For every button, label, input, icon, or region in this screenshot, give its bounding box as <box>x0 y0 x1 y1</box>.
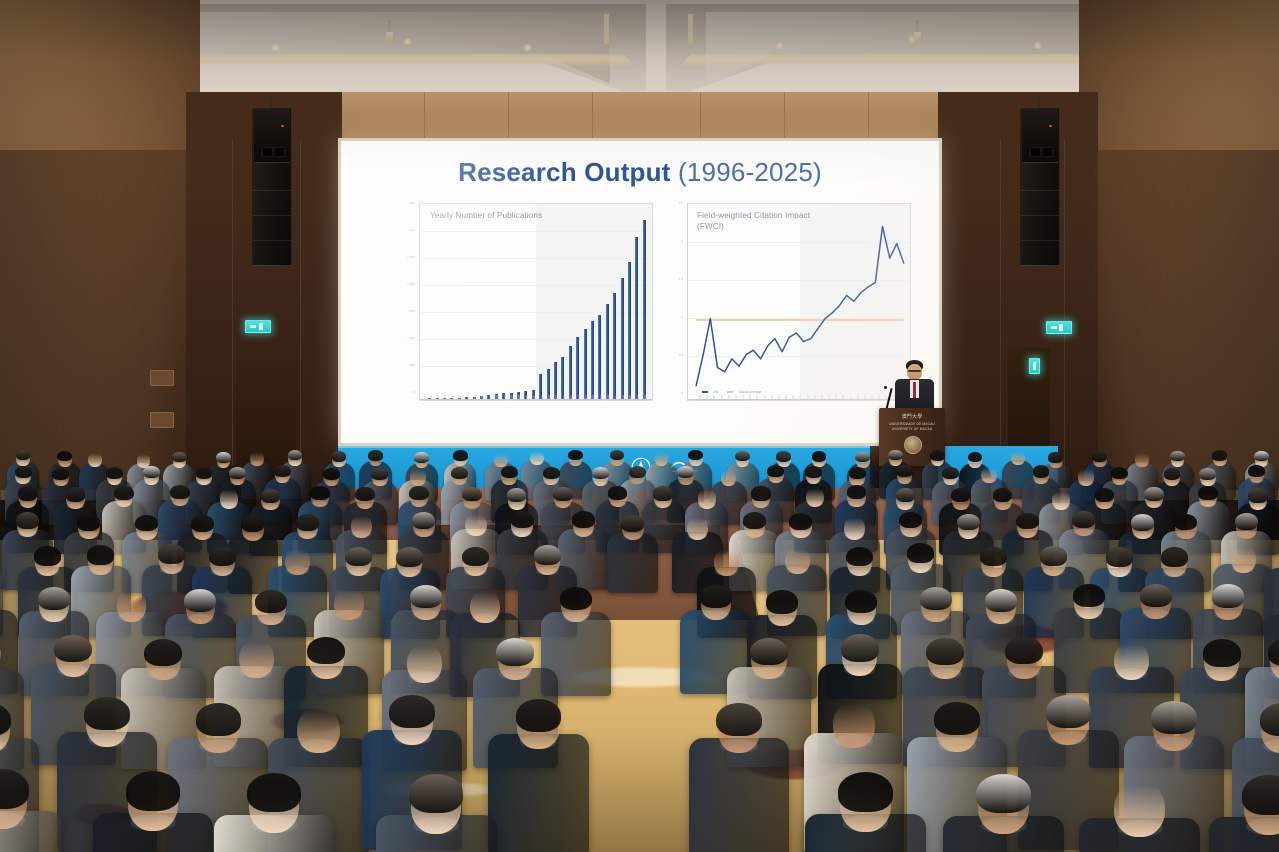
y-tick-label: 500 <box>401 363 415 367</box>
speaker-status-led <box>1049 125 1052 127</box>
y-axis <box>687 203 688 399</box>
y-tick-label: 2 <box>671 239 683 243</box>
audience-hair <box>170 485 190 499</box>
audience-hair <box>307 637 345 665</box>
downlight <box>776 42 783 49</box>
audience-hair <box>414 452 429 463</box>
audience-collar <box>897 504 913 510</box>
audience-hair <box>389 695 434 728</box>
x-tick-label: 2010 <box>799 395 802 401</box>
x-tick-label: 2005 <box>496 395 499 401</box>
audience-hair <box>1073 584 1105 607</box>
audience-hair <box>451 467 468 479</box>
audience-hair <box>930 450 945 461</box>
audience-hair <box>371 468 388 480</box>
audience-hair <box>57 451 72 462</box>
wall-panel-seam <box>424 92 425 140</box>
audience-hair <box>261 489 281 503</box>
x-tick-label: 2001 <box>467 395 470 401</box>
x-tick-label: 2013 <box>555 395 558 401</box>
x-tick-label: 2012 <box>548 395 551 401</box>
x-tick-label: 2016 <box>842 395 845 401</box>
audience-hair <box>1005 637 1043 665</box>
audience-hair <box>1072 511 1095 528</box>
audience-hair <box>16 450 31 461</box>
bar <box>621 278 624 399</box>
bar <box>584 329 587 399</box>
x-tick-label: 1998 <box>713 395 716 401</box>
line-array-speaker-right <box>1020 108 1060 266</box>
audience-hair <box>1199 468 1216 480</box>
x-tick-label: 2000 <box>728 395 731 401</box>
audience-hair <box>572 511 595 528</box>
audience-collar <box>910 564 933 572</box>
presenter-glasses <box>908 370 921 372</box>
audience-hair <box>920 587 952 610</box>
audience-hair <box>688 450 703 461</box>
audience-collar <box>1250 504 1266 510</box>
pendant-lamp <box>914 32 921 43</box>
y-tick-label: 3,000 <box>401 228 415 232</box>
audience-hair <box>135 515 158 532</box>
x-tick-label: 2009 <box>526 395 529 401</box>
fwci-line-series <box>688 204 910 400</box>
legend-swatch-global-average <box>727 391 733 393</box>
audience-collar <box>848 500 864 506</box>
audience-hair <box>1092 451 1107 462</box>
audience-collar <box>753 502 769 508</box>
audience-hair <box>976 774 1031 814</box>
um-fwci-line <box>696 226 904 386</box>
x-tick-label: 1998 <box>444 395 447 401</box>
x-tick-label: 2007 <box>778 395 781 401</box>
audience-collar <box>1008 667 1040 679</box>
audience-collar <box>1163 569 1186 577</box>
audience-collar <box>502 479 516 484</box>
y-tick-label: 0 <box>671 391 683 395</box>
y-axis <box>419 203 420 399</box>
audience-hair <box>114 486 134 500</box>
audience-member <box>0 767 62 852</box>
wall-panel-seam <box>1000 140 1001 480</box>
audience-collar <box>720 739 758 753</box>
x-tick-label: 2021 <box>878 395 881 401</box>
audience-collar <box>1232 565 1255 573</box>
audience-hair <box>767 465 784 477</box>
audience-member <box>376 771 497 852</box>
x-tick-label: 2015 <box>570 395 573 401</box>
audience-torso <box>689 738 789 852</box>
x-tick-label: 2023 <box>629 395 632 401</box>
audience-hair <box>345 547 372 567</box>
audience-hair <box>1161 547 1188 567</box>
audience-collar <box>352 531 371 538</box>
x-tick-label: 2020 <box>871 395 874 401</box>
x-tick-label: 2008 <box>785 395 788 401</box>
x-tick-label: 2011 <box>807 395 810 401</box>
bar <box>569 346 572 399</box>
x-tick-label: 2013 <box>821 395 824 401</box>
audience-hair <box>184 589 216 612</box>
audience-hair <box>805 466 822 478</box>
audience-hair <box>845 590 877 613</box>
y-tick-label: 2,000 <box>401 282 415 286</box>
audience-collar <box>144 479 158 484</box>
audience-hair <box>926 638 964 666</box>
y-tick-label: 1,000 <box>401 336 415 340</box>
audience-collar <box>959 532 978 539</box>
audience-hair <box>849 467 866 479</box>
slide-title-years: (1996-2025) <box>678 157 822 187</box>
microphone-head <box>884 386 887 389</box>
audience-collar <box>59 462 71 467</box>
audience-hair <box>985 589 1017 612</box>
x-tick-labels: 1996199719981999200020012002200320042005… <box>693 401 909 425</box>
audience-collar <box>512 530 531 537</box>
audience-collar <box>67 503 83 509</box>
y-tick-label: 2,500 <box>401 255 415 259</box>
audience-collar <box>413 817 459 834</box>
audience-hair <box>143 466 160 478</box>
presenter-tie <box>913 382 916 398</box>
audience-hair <box>847 485 867 499</box>
x-tick-label: 1997 <box>437 395 440 401</box>
audience-member <box>805 770 926 852</box>
x-tick-label: 2001 <box>735 395 738 401</box>
audience-hair <box>677 466 694 478</box>
audience-hair <box>846 547 873 567</box>
audience-hair <box>15 466 32 478</box>
audience-hair <box>1212 450 1227 461</box>
audience-collar <box>1109 569 1132 577</box>
audience-member <box>93 769 214 852</box>
audience-collar <box>898 478 912 483</box>
back-wall-upper <box>340 92 940 140</box>
audience-hair <box>106 467 123 479</box>
audience-collar <box>160 565 183 573</box>
audience-collar <box>1053 504 1069 510</box>
audience-collar <box>118 612 145 622</box>
speaker-port <box>1042 147 1053 157</box>
x-tick-label: 2010 <box>533 395 536 401</box>
audience-hair <box>534 545 561 565</box>
x-tick-label: 2002 <box>742 395 745 401</box>
y-tick-label: 0 <box>401 390 415 394</box>
audience-collar <box>16 479 30 484</box>
speaker-module <box>253 240 291 266</box>
audience-hair <box>1140 584 1172 607</box>
speaker-port <box>274 147 285 157</box>
audience-hair <box>462 487 482 501</box>
audience-hair <box>560 587 592 610</box>
audience-collar <box>715 568 738 576</box>
audience-collar <box>54 481 68 486</box>
audience-hair <box>288 450 303 461</box>
audience-hair <box>735 451 750 462</box>
audience-hair <box>516 699 561 732</box>
audience-hair <box>1170 451 1185 462</box>
audience-hair <box>144 639 182 667</box>
wall-panel-seam <box>1064 140 1065 480</box>
audience-hair <box>716 703 761 736</box>
audience-member <box>1209 773 1279 852</box>
x-tick-label: 2011 <box>541 395 544 401</box>
y-tick-label: 1 <box>671 315 683 319</box>
audience-hair <box>1198 486 1218 500</box>
audience-collar <box>1074 529 1093 536</box>
x-tick-label: 1997 <box>706 395 709 401</box>
audience-hair <box>66 487 86 501</box>
exit-sign-left <box>245 320 271 333</box>
ceiling-light-slot-1 <box>604 14 609 44</box>
bar <box>554 362 557 399</box>
audience-collar <box>901 530 920 537</box>
audience-hair <box>1131 514 1154 531</box>
audience-member <box>689 701 789 852</box>
x-tick-label: 1999 <box>721 395 724 401</box>
x-tick-label: 2008 <box>518 395 521 401</box>
legend-label-global-average: Global Average <box>738 390 761 394</box>
audience-collar <box>848 615 875 625</box>
wall-panel-seam <box>300 140 301 480</box>
audience-hair <box>412 512 435 529</box>
audience-hair <box>608 486 628 500</box>
audience-hair <box>888 450 903 461</box>
audience-hair <box>1203 639 1241 667</box>
downlight <box>1034 42 1041 49</box>
slide-title-main: Research Output <box>458 157 671 187</box>
ceiling-light-slot-2 <box>688 14 693 44</box>
audience-hair <box>1164 468 1181 480</box>
audience-hair <box>1174 514 1197 531</box>
exit-sign-right <box>1046 321 1072 334</box>
audience-collar <box>944 480 958 485</box>
chart-legend: UM Global Average <box>702 390 761 394</box>
audience-hair <box>126 771 181 811</box>
audience-hair <box>1033 465 1050 477</box>
wall-panel-seam <box>592 92 593 140</box>
x-tick-label: 2024 <box>637 395 640 401</box>
audience-hair <box>1212 584 1244 607</box>
audience-hair <box>934 702 979 735</box>
exit-running-man-icon <box>1033 362 1036 370</box>
audience-collar <box>373 481 387 486</box>
audience-collar <box>995 503 1011 509</box>
wall-plaque-lower <box>150 412 174 428</box>
exit-running-man-icon <box>259 323 263 330</box>
audience-hair <box>172 452 187 463</box>
audience-hair <box>247 773 302 813</box>
x-tick-label: 2017 <box>850 395 853 401</box>
audience-hair <box>1095 488 1115 502</box>
audience-hair <box>896 465 913 477</box>
x-tick-label: 2018 <box>592 395 595 401</box>
audience-hair <box>957 514 980 531</box>
y-tick-label: 0.5 <box>671 353 683 357</box>
audience-hair <box>700 585 732 608</box>
podium-text-en: UNIVERSITY OF MACAU <box>879 427 945 431</box>
audience-hair <box>968 452 983 463</box>
bar <box>591 321 594 399</box>
audience-collar <box>835 734 873 748</box>
audience-hair <box>776 451 791 462</box>
downlight <box>524 44 531 51</box>
audience-collar <box>520 735 558 749</box>
wall-panel-seam <box>868 92 869 140</box>
audience-hair <box>951 488 971 502</box>
line-array-speaker-left <box>252 108 292 266</box>
chart-fwci: 2.5 2 1.5 1 0.5 0 Field-weighted Citatio… <box>671 203 909 425</box>
audience-hair <box>1016 513 1039 530</box>
audience-hair <box>216 452 231 463</box>
audience-member <box>1079 774 1200 852</box>
audience-collar <box>807 479 821 484</box>
x-tick-label: 2006 <box>504 395 507 401</box>
audience-collar <box>722 481 736 486</box>
audience-hair <box>453 450 468 461</box>
audience-hair <box>255 590 287 613</box>
x-tick-label: 2019 <box>864 395 867 401</box>
presenter-head <box>907 364 922 380</box>
audience-hair <box>841 634 879 662</box>
legend-swatch-um <box>702 391 708 393</box>
audience-hair <box>54 635 92 663</box>
audience-hair <box>355 487 375 501</box>
audience-hair <box>568 450 583 461</box>
exit-running-man-icon <box>1059 324 1063 331</box>
audience-hair <box>274 465 291 477</box>
audience-hair <box>462 547 489 567</box>
audience-member <box>607 514 658 598</box>
bar <box>613 293 616 399</box>
audience-hair <box>1144 487 1164 501</box>
audience-hair <box>1040 546 1067 566</box>
x-tick-label: 2014 <box>563 395 566 401</box>
audience-collar <box>1079 481 1093 486</box>
audience-hair <box>296 514 319 531</box>
audience-collar <box>173 463 185 468</box>
audience-collar <box>699 502 715 508</box>
audience-hair <box>496 638 534 666</box>
podium-text-pt: UNIVERSIDADE DE MACAU <box>879 422 945 426</box>
downlight <box>272 44 279 51</box>
speaker-module <box>253 215 291 241</box>
bar <box>643 220 646 399</box>
audience-hair <box>789 513 812 530</box>
x-tick-label: 2012 <box>814 395 817 401</box>
x-tick-label: 2014 <box>828 395 831 401</box>
audience-hair <box>1106 547 1133 567</box>
audience-hair <box>543 467 560 479</box>
audience-hair <box>1111 467 1128 479</box>
audience-hair <box>158 544 185 564</box>
audience-hair <box>942 467 959 479</box>
chart-plot-area: Field-weighted Citation Impact (FWCI) UM… <box>687 203 911 401</box>
audience-hair <box>409 486 429 500</box>
audience-collar <box>953 504 969 510</box>
audience-hair <box>209 547 236 567</box>
audience-collar <box>679 479 693 484</box>
audience-hair <box>332 451 347 462</box>
audience-collar <box>981 817 1027 834</box>
audience-hair <box>18 486 38 500</box>
audience-collar <box>1117 820 1163 837</box>
audience-member <box>943 772 1064 852</box>
audience-hair <box>751 486 771 500</box>
y-tick-label: 1,500 <box>401 309 415 313</box>
audience-hair <box>84 697 129 730</box>
chart-yearly-publications: 3,500 3,000 2,500 2,000 1,500 1,000 500 … <box>401 203 651 425</box>
x-tick-label: 2019 <box>600 395 603 401</box>
wall-panel-seam <box>784 92 785 140</box>
exit-arrow-icon <box>250 325 256 328</box>
y-tick-label: 1.5 <box>671 277 683 281</box>
speaker-module <box>253 165 291 191</box>
audience-collar <box>399 568 422 576</box>
audience-hair <box>310 486 330 500</box>
audience-hair <box>1242 775 1279 815</box>
x-tick-label: 2009 <box>792 395 795 401</box>
audience-collar <box>753 668 785 680</box>
audience-collar <box>688 533 707 540</box>
x-tick-label: 2003 <box>749 395 752 401</box>
speaker-module <box>1021 165 1059 191</box>
speaker-module <box>1021 215 1059 241</box>
bar <box>628 262 631 400</box>
bar <box>576 337 579 399</box>
audience-collar <box>464 502 480 508</box>
audience-hair <box>1048 452 1063 463</box>
audience-hair <box>896 488 916 502</box>
slide-title: Research Output (1996-2025) <box>341 157 939 188</box>
audience-member <box>488 697 588 852</box>
audience <box>0 440 1279 852</box>
audience-hair <box>191 515 214 532</box>
bar <box>606 304 609 399</box>
audience-hair <box>229 467 246 479</box>
speaker-module <box>1021 190 1059 216</box>
audience-collar <box>536 567 559 575</box>
x-tick-label: 2007 <box>511 395 514 401</box>
audience-collar <box>310 667 342 679</box>
audience-collar <box>938 738 976 752</box>
audience-hair <box>553 487 573 501</box>
audience-torso <box>488 734 588 852</box>
audience-collar <box>1034 479 1048 484</box>
right-outer-wall <box>1094 150 1279 490</box>
audience-collar <box>90 566 113 574</box>
audience-hair <box>653 486 673 500</box>
speaker-status-led <box>281 125 284 127</box>
pendant-lamp <box>386 32 393 43</box>
y-tick-label: 3,500 <box>401 201 415 205</box>
audience-torso <box>607 533 658 594</box>
audience-collar <box>923 612 950 622</box>
exit-arrow-icon <box>1051 326 1057 329</box>
audience-hair <box>1235 513 1258 530</box>
projection-screen: Research Output (1996-2025) 3,500 3,000 … <box>341 141 939 443</box>
audience-collar <box>1142 609 1169 619</box>
audience-hair <box>501 466 518 478</box>
x-tick-label: 2006 <box>771 395 774 401</box>
audience-hair <box>855 452 870 463</box>
audience-hair <box>629 466 646 478</box>
wall-panel-seam <box>232 140 233 480</box>
x-tick-label: 2017 <box>585 395 588 401</box>
x-tick-label: 2015 <box>835 395 838 401</box>
x-tick-label: 2016 <box>578 395 581 401</box>
audience-hair <box>907 543 934 563</box>
